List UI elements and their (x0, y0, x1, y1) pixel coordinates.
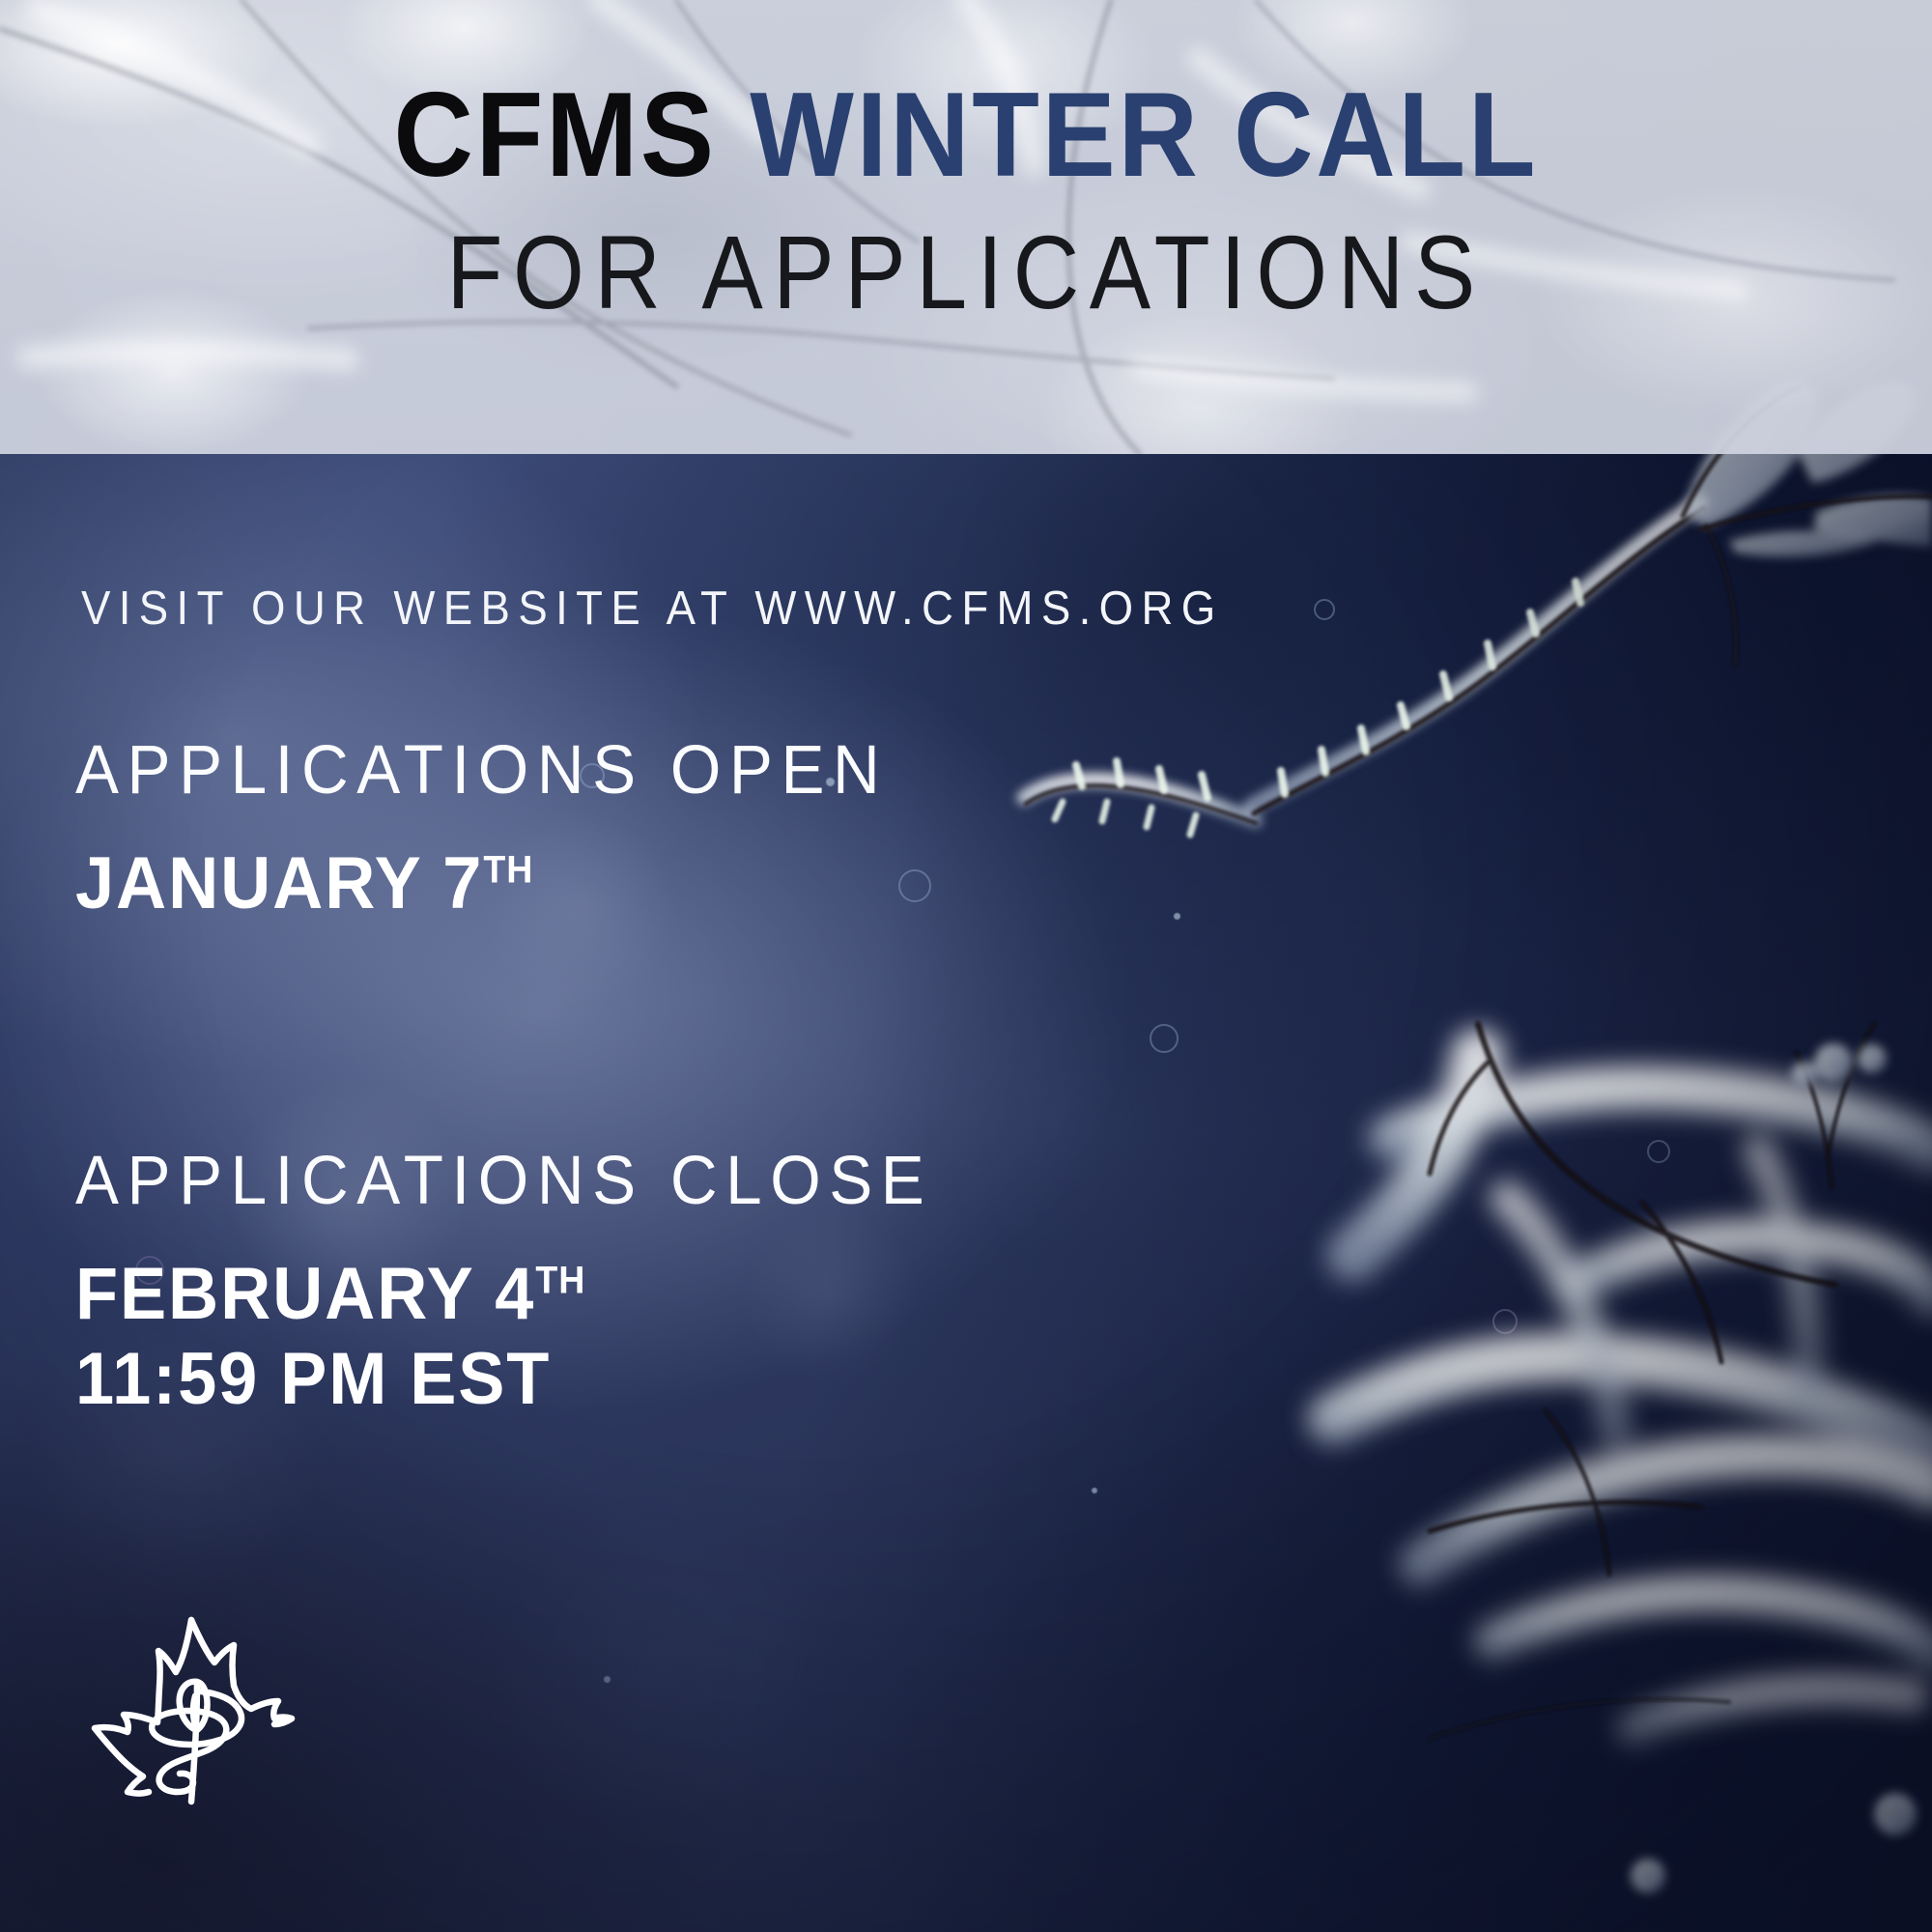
applications-close-time: 11:59 PM EST (75, 1337, 932, 1422)
applications-open-block: APPLICATIONS OPEN JANUARY 7TH (75, 734, 931, 926)
cfms-winter-call-poster: CFMS WINTER CALL FOR APPLICATIONS VISIT … (0, 0, 1932, 1932)
applications-close-heading: APPLICATIONS CLOSE (75, 1145, 932, 1217)
title-part-2: WINTER CALL (750, 69, 1538, 202)
header-band: CFMS WINTER CALL FOR APPLICATIONS (0, 0, 1932, 454)
page-title: CFMS WINTER CALL (394, 75, 1539, 195)
title-part-1: CFMS (394, 69, 717, 202)
body-area: VISIT OUR WEBSITE AT WWW.CFMS.ORG APPLIC… (0, 454, 1932, 1932)
close-date-main: FEBRUARY 4 (75, 1253, 535, 1335)
applications-close-block: APPLICATIONS CLOSE FEBRUARY 4TH 11:59 PM… (75, 1145, 978, 1423)
header-title-wrap: CFMS WINTER CALL FOR APPLICATIONS (0, 0, 1932, 454)
cfms-logo[interactable] (68, 1599, 319, 1860)
applications-close-date: FEBRUARY 4TH (75, 1252, 932, 1337)
close-date-ordinal: TH (535, 1260, 585, 1302)
maple-leaf-serpent-icon (68, 1599, 319, 1860)
open-date-ordinal: TH (483, 849, 533, 892)
website-line[interactable]: VISIT OUR WEBSITE AT WWW.CFMS.ORG (81, 582, 1224, 636)
page-subtitle: FOR APPLICATIONS (446, 220, 1486, 325)
open-date-main: JANUARY 7 (75, 842, 483, 924)
applications-open-date: JANUARY 7TH (75, 841, 888, 926)
applications-open-heading: APPLICATIONS OPEN (75, 734, 888, 807)
